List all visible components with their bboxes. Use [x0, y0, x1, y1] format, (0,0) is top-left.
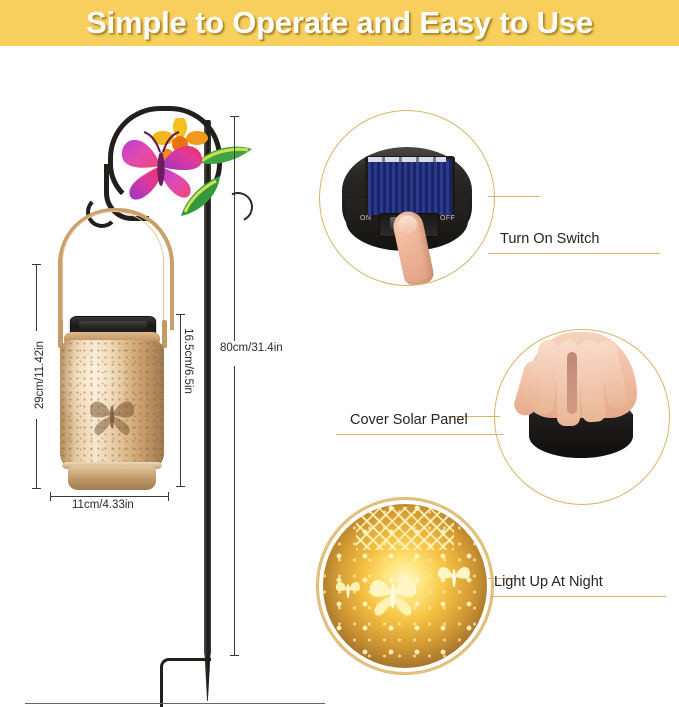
- callout-underline-3: [490, 596, 666, 597]
- dimension-label-body-height: 16.5cm/6.5in: [181, 317, 195, 405]
- dimension-cap: [176, 314, 185, 315]
- switch-on-label: ON: [360, 215, 371, 222]
- infographic-stage: 29cm/11.42in 16.5cm/6.5in 80cm/31.4in 11…: [0, 46, 679, 675]
- dimension-cap: [50, 492, 51, 501]
- solar-lantern: [42, 208, 182, 508]
- dimension-cap: [32, 264, 41, 265]
- dimension-line-stake-lower: [234, 366, 235, 656]
- product-dimension-panel: 29cm/11.42in 16.5cm/6.5in 80cm/31.4in 11…: [0, 46, 300, 675]
- dimension-label-width: 11cm/4.33in: [70, 498, 136, 512]
- dimension-cap: [230, 116, 239, 117]
- callout-label-cover-solar-panel: Cover Solar Panel: [350, 412, 468, 428]
- butterfly-icon: [86, 392, 138, 436]
- dimension-label-stake-height: 80cm/31.4in: [218, 341, 285, 355]
- dimension-line-stake-upper: [234, 116, 235, 346]
- callout-label-light-up-at-night: Light Up At Night: [494, 574, 603, 590]
- lantern-handle-highlight: [62, 211, 164, 324]
- decorative-scroll-curl: [219, 188, 257, 226]
- dimension-cap: [230, 655, 239, 656]
- page-title: Simple to Operate and Easy to Use: [86, 5, 593, 41]
- globe-edge-ring: [317, 498, 493, 674]
- photovoltaic-panel: [365, 156, 455, 218]
- callout-underline-2: [336, 434, 504, 435]
- callout-connector-line-1: [488, 196, 540, 197]
- dimension-label-lantern-height: 29cm/11.42in: [33, 331, 47, 419]
- dimension-cap: [32, 488, 41, 489]
- callout-image-light-up-at-night: [316, 497, 494, 675]
- callout-image-turn-on-switch: ON OFF: [319, 110, 495, 286]
- solar-cap-side: [529, 414, 633, 458]
- dimension-cap: [168, 492, 169, 501]
- garden-stake-foot-pedal: [160, 658, 211, 707]
- switch-off-label: OFF: [440, 215, 455, 222]
- ground-line: [25, 703, 325, 704]
- butterfly-icon: [116, 124, 208, 206]
- callout-image-cover-solar-panel: [494, 329, 670, 505]
- dimension-line-width: [50, 496, 168, 497]
- lantern-body: [60, 340, 164, 470]
- callout-label-turn-on-switch: Turn On Switch: [500, 231, 599, 247]
- callout-underline-1: [488, 253, 660, 254]
- photovoltaic-busbar: [368, 157, 446, 162]
- dimension-cap: [176, 486, 185, 487]
- header-banner: Simple to Operate and Easy to Use: [0, 0, 679, 46]
- finger-gap-shadow: [567, 352, 577, 414]
- lantern-base: [68, 466, 156, 490]
